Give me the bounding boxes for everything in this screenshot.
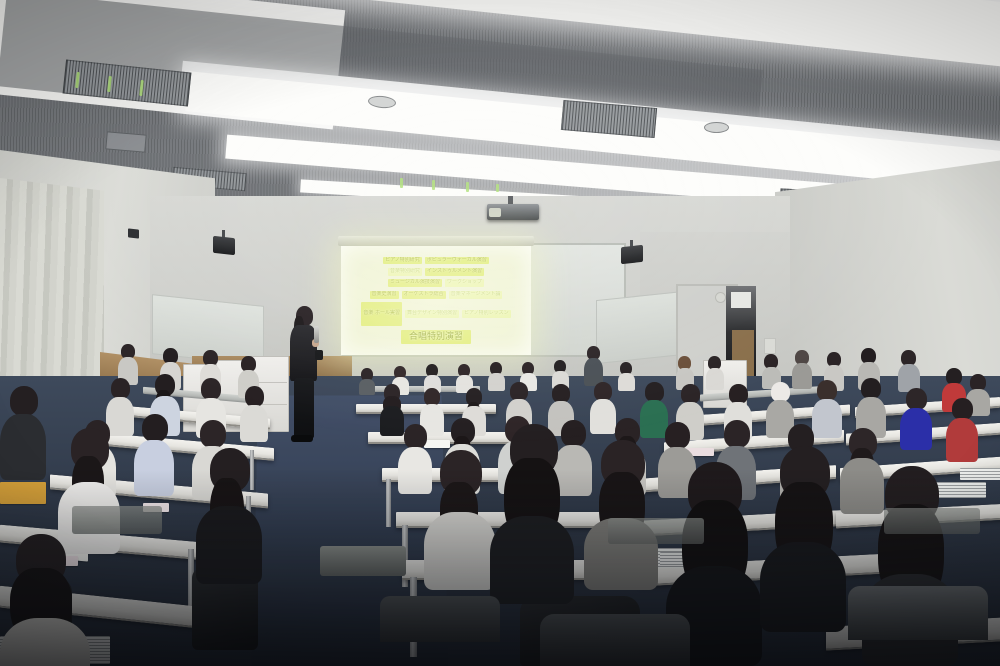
slide-chip: ピアノ特別レッスン [462,310,511,318]
chair [848,586,988,640]
head [245,386,264,407]
projector-lens [489,208,501,217]
torso [424,512,496,590]
printed-handout [960,468,1000,480]
torso [488,373,505,391]
projection-screen: ピアノ特別研究 ポピュラーヴォーカル演習 音楽特別研究 インストゥルメント演習 … [341,246,531,355]
torso [792,363,812,389]
chair [608,518,704,544]
chair [540,614,690,666]
slide-row: ピアノ特別研究 ポピュラーヴォーカル演習 [350,257,522,265]
wall-clock-icon [715,292,726,303]
slide-content: ピアノ特別研究 ポピュラーヴォーカル演習 音楽特別研究 インストゥルメント演習 … [345,250,527,351]
slide-row: 音楽史演習 オーケストラ総合 音楽マネージメント論 [350,291,522,299]
audience-member [898,350,920,392]
presenter-shoe [291,435,313,442]
head [952,398,973,420]
head [200,420,226,448]
audience-member [0,534,90,666]
slide-chip: 音楽 ホール実習 [361,302,402,326]
torso [706,368,724,390]
audience-member [240,386,268,442]
torso [134,440,174,496]
torso [618,373,635,391]
torso [0,414,46,480]
slide-chip-headline: 合唱特別演習 [401,330,471,344]
head [645,382,664,402]
slide-chip: ワークショップ [445,279,484,287]
torso [490,516,574,604]
slide-chip: 舞台デザイン特別演習 [405,310,459,318]
audience-member [0,386,46,480]
head [724,420,750,448]
slide-chip: ポピュラーヴォーカル演習 [425,257,489,265]
vent-led-f [466,182,469,192]
slide-chip: 音楽史演習 [370,291,399,299]
audience-member [424,450,496,590]
vent-led-d [400,178,403,188]
light-switch-plate[interactable] [764,338,776,354]
audience-member [359,368,375,394]
audience-member [134,414,174,496]
audience-member [760,446,846,632]
slide-chip: オーケストラ総合 [402,291,446,299]
ceiling-camera [128,228,139,238]
audience-member [618,362,635,390]
wall-speaker-right [621,245,643,264]
torso [0,618,90,666]
slide-chip: 音楽特別研究 [388,268,422,276]
head [771,382,790,402]
head [817,380,837,401]
slide-chip: 音楽マネージメント論 [449,291,503,299]
microphone-icon [314,326,319,343]
slide-chip: ピアノ特別研究 [383,257,422,265]
audience-member [196,448,262,584]
slide-row: ミュージカル演技演習 ワークショップ [350,279,522,287]
torso [196,506,262,584]
slide-row: 合唱特別演習 [350,330,522,344]
audience-member [490,424,574,604]
chair [72,506,162,534]
presenter-device [315,350,323,360]
vent-led-e [432,180,435,190]
head [404,424,427,449]
smoke-detector-right [704,122,729,133]
head [111,378,130,399]
torso [946,418,978,462]
presenter [286,306,326,446]
head [729,384,748,404]
desk-leg [386,479,391,527]
presenter-legs [294,378,314,438]
presenter-torso [290,325,317,381]
head [201,378,221,400]
audience-member [584,440,658,590]
wall-speaker-left [213,236,235,255]
audience-member [946,398,978,462]
paper-sheet [0,482,46,504]
torso [760,542,846,632]
head [10,386,38,416]
chair [884,508,980,534]
door-sign [731,292,751,308]
head [681,384,700,404]
audience-member [792,350,812,388]
chair [320,546,406,576]
slide-chip: インストゥルメント演習 [425,268,484,276]
lecture-hall-photo: ピアノ特別研究 ポピュラーヴォーカル演習 音楽特別研究 インストゥルメント演習 … [0,0,1000,666]
slide-row: 音楽特別研究 インストゥルメント演習 [350,268,522,276]
head [142,414,168,442]
screen-housing [338,236,534,246]
slide-chip: ミュージカル演技演習 [388,279,442,287]
vent-led-g [496,184,499,192]
chair [380,596,500,642]
torso [359,379,375,395]
head [861,378,881,399]
slide-row: 音楽 ホール実習 舞台デザイン特別演習 ピアノ特別レッスン [350,302,522,326]
audience-member [900,388,932,450]
audience-member [706,356,724,388]
ceiling-access-panel [105,131,146,152]
audience-member [488,362,505,390]
head [665,422,690,449]
head [906,388,927,410]
torso [900,408,932,450]
torso [240,405,268,442]
